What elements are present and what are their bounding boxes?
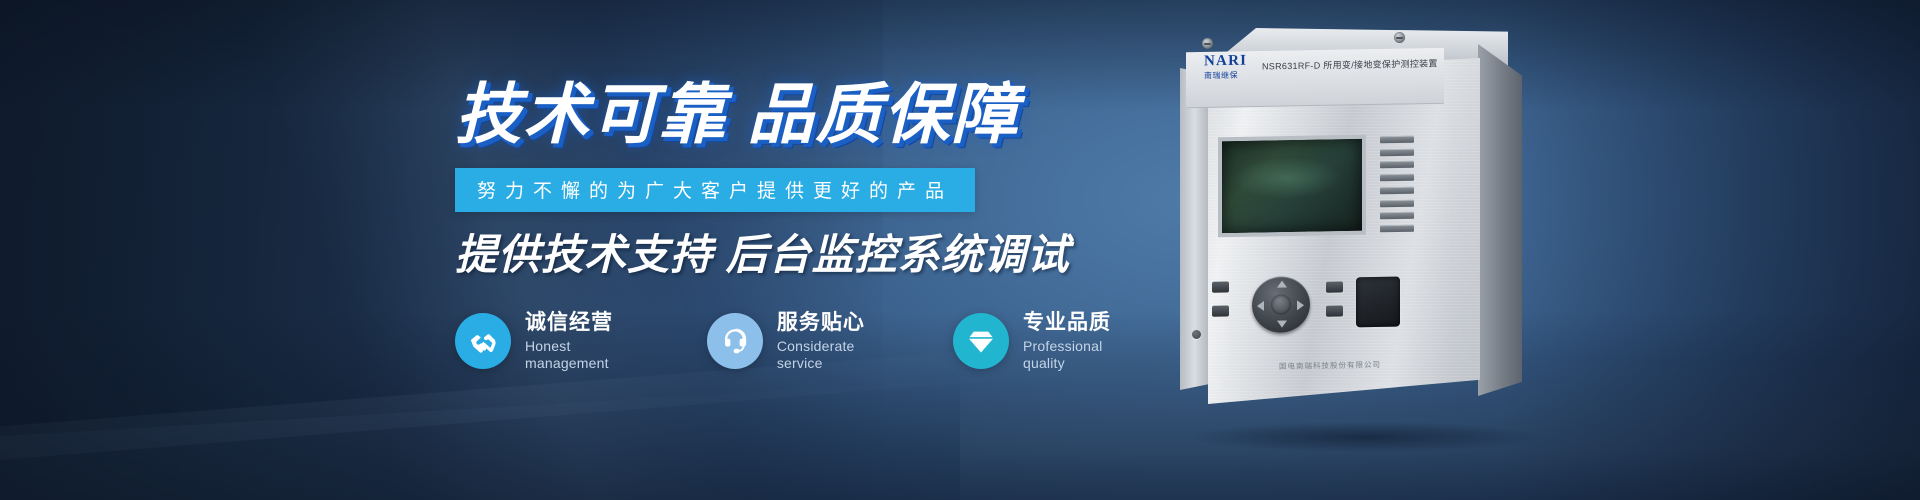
feature-title-cn: 诚信经营	[525, 310, 655, 335]
keypad-button[interactable]	[1326, 306, 1343, 317]
led-indicator	[1380, 225, 1414, 233]
feature-title-cn: 专业品质	[1023, 310, 1145, 335]
feature-item-honest-management[interactable]: 诚信经营 Honest management	[455, 310, 655, 372]
feature-title-en: Honest management	[525, 338, 655, 372]
device-lcd-screen	[1218, 135, 1366, 238]
device-port	[1356, 277, 1400, 328]
device-side-face	[1478, 44, 1522, 396]
brand-name-en: NARI	[1204, 54, 1247, 70]
led-indicator	[1380, 212, 1414, 220]
arrow-right-icon[interactable]	[1297, 300, 1304, 310]
screen-glow	[1233, 156, 1342, 200]
arrow-left-icon[interactable]	[1257, 301, 1264, 311]
device-keypad	[1210, 274, 1420, 336]
brand-name-cn: 南瑞继保	[1204, 70, 1247, 82]
feature-title-en: Professional quality	[1023, 338, 1145, 372]
feature-text: 服务贴心 Considerate service	[777, 310, 901, 372]
promo-banner: 技术可靠 品质保障 努力不懈的为广大客户提供更好的产品 提供技术支持 后台监控系…	[0, 0, 1920, 500]
led-indicator	[1380, 174, 1414, 182]
led-indicator	[1380, 136, 1414, 144]
headset-icon	[707, 313, 763, 369]
arrow-down-icon[interactable]	[1277, 320, 1287, 327]
headline-secondary: 提供技术支持 后台监控系统调试	[455, 232, 1145, 278]
feature-item-professional-quality[interactable]: 专业品质 Professional quality	[953, 310, 1145, 372]
subtitle-bar: 努力不懈的为广大客户提供更好的产品	[455, 168, 975, 212]
feature-text: 诚信经营 Honest management	[525, 310, 655, 372]
feature-title-en: Considerate service	[777, 338, 901, 372]
handshake-icon	[455, 313, 511, 369]
banner-copy: 技术可靠 品质保障 努力不懈的为广大客户提供更好的产品 提供技术支持 后台监控系…	[455, 80, 1145, 372]
diamond-icon	[953, 313, 1009, 369]
feature-list: 诚信经营 Honest management 服务贴心 Considerate …	[455, 310, 1145, 372]
led-indicator	[1380, 161, 1414, 169]
dpad-control[interactable]	[1252, 276, 1310, 333]
keypad-button[interactable]	[1326, 282, 1343, 293]
feature-title-cn: 服务贴心	[777, 310, 901, 335]
feature-item-considerate-service[interactable]: 服务贴心 Considerate service	[707, 310, 901, 372]
headline-primary: 技术可靠 品质保障	[455, 80, 1145, 150]
led-indicator	[1380, 187, 1414, 195]
mounting-hole	[1192, 330, 1201, 339]
ok-button[interactable]	[1271, 294, 1291, 314]
arrow-up-icon[interactable]	[1277, 280, 1287, 287]
keypad-button[interactable]	[1212, 282, 1229, 293]
screw-icon	[1394, 32, 1405, 43]
device-brand-logo: NARI 南瑞继保	[1204, 54, 1247, 82]
screw-icon	[1202, 38, 1213, 49]
keypad-button[interactable]	[1212, 306, 1229, 317]
feature-text: 专业品质 Professional quality	[1023, 310, 1145, 372]
device-mounting-ear	[1180, 68, 1212, 390]
product-device-image: NARI 南瑞继保 NSR631RF-D 所用变/接地变保护测控装置	[1180, 28, 1550, 448]
device-led-panel	[1380, 136, 1414, 233]
led-indicator	[1380, 199, 1414, 207]
device-shadow	[1190, 422, 1540, 452]
led-indicator	[1380, 148, 1414, 156]
